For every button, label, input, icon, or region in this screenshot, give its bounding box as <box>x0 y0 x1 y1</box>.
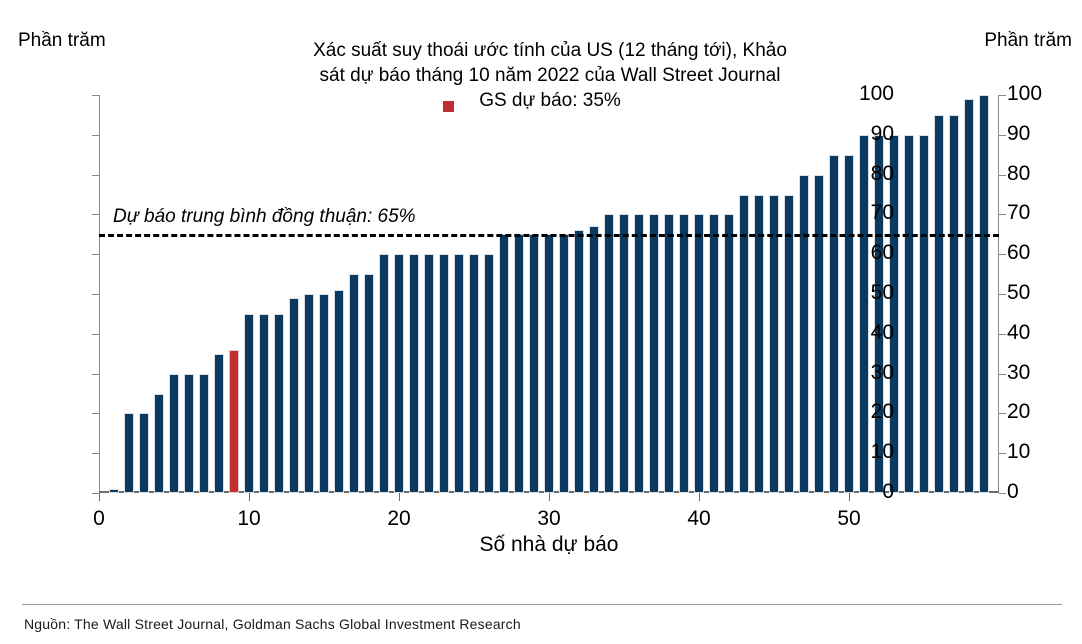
y-tick-100 <box>92 95 99 96</box>
y-tick-30 <box>92 374 99 375</box>
bar-2 <box>124 413 134 493</box>
bar-21 <box>409 254 419 493</box>
bar-58 <box>964 99 974 493</box>
x-tick-label-30: 30 <box>524 507 574 531</box>
y-tick-label-right-0: 0 <box>1007 480 1067 504</box>
bar-55 <box>919 135 929 493</box>
right-axis-unit-label: Phần trăm <box>984 30 1072 52</box>
y-tick-right-100 <box>999 95 1006 96</box>
chart-title-line-2: sát dự báo tháng 10 năm 2022 của Wall St… <box>225 63 875 88</box>
y-tick-label-20: 20 <box>834 400 894 424</box>
bar-26 <box>484 254 494 493</box>
bar-40 <box>694 214 704 493</box>
footer-divider <box>22 604 1062 605</box>
consensus-reference-line <box>99 234 999 237</box>
bar-22 <box>424 254 434 493</box>
bar-31 <box>559 234 569 493</box>
bar-30 <box>544 234 554 493</box>
y-tick-label-right-80: 80 <box>1007 162 1067 186</box>
y-tick-label-70: 70 <box>834 201 894 225</box>
y-tick-label-10: 10 <box>834 440 894 464</box>
x-tick-label-0: 0 <box>74 507 124 531</box>
y-tick-label-50: 50 <box>834 281 894 305</box>
bar-33 <box>589 226 599 493</box>
bar-17 <box>349 274 359 493</box>
x-tick-30 <box>549 493 550 501</box>
x-tick-label-50: 50 <box>824 507 874 531</box>
y-tick-60 <box>92 254 99 255</box>
bar-57 <box>949 115 959 493</box>
x-tick-40 <box>699 493 700 501</box>
bar-3 <box>139 413 149 493</box>
x-axis-title: Số nhà dự báo <box>99 533 999 557</box>
y-tick-0 <box>92 493 99 494</box>
x-tick-20 <box>399 493 400 501</box>
chart-container: Phần trăm Phần trăm Xác suất suy thoái ư… <box>0 0 1082 644</box>
bar-35 <box>619 214 629 493</box>
bar-42 <box>724 214 734 493</box>
y-tick-label-right-30: 30 <box>1007 361 1067 385</box>
x-tick-10 <box>249 493 250 501</box>
y-tick-right-90 <box>999 135 1006 136</box>
y-tick-label-right-50: 50 <box>1007 281 1067 305</box>
bar-39 <box>679 214 689 493</box>
y-tick-label-80: 80 <box>834 162 894 186</box>
bar-36 <box>634 214 644 493</box>
y-tick-label-right-20: 20 <box>1007 400 1067 424</box>
bar-34 <box>604 214 614 493</box>
bar-25 <box>469 254 479 493</box>
x-tick-label-40: 40 <box>674 507 724 531</box>
bar-32 <box>574 230 584 493</box>
chart-title-line-1: Xác suất suy thoái ước tính của US (12 t… <box>225 38 875 63</box>
bar-45 <box>769 195 779 494</box>
y-tick-right-10 <box>999 453 1006 454</box>
bar-48 <box>814 175 824 493</box>
y-tick-label-30: 30 <box>834 361 894 385</box>
y-tick-right-20 <box>999 413 1006 414</box>
left-axis-unit-label: Phần trăm <box>18 30 106 52</box>
bar-13 <box>289 298 299 493</box>
y-tick-right-0 <box>999 493 1006 494</box>
y-tick-80 <box>92 175 99 176</box>
y-tick-label-right-90: 90 <box>1007 122 1067 146</box>
x-tick-label-20: 20 <box>374 507 424 531</box>
y-tick-right-70 <box>999 214 1006 215</box>
y-tick-right-60 <box>999 254 1006 255</box>
bar-6 <box>184 374 194 493</box>
y-tick-label-100: 100 <box>834 82 894 106</box>
y-tick-label-right-70: 70 <box>1007 201 1067 225</box>
bar-20 <box>394 254 404 493</box>
bar-8 <box>214 354 224 493</box>
bar-5 <box>169 374 179 493</box>
bar-47 <box>799 175 809 493</box>
bar-16 <box>334 290 344 493</box>
bar-37 <box>649 214 659 493</box>
y-tick-70 <box>92 214 99 215</box>
bar-19 <box>379 254 389 493</box>
y-tick-label-0: 0 <box>834 480 894 504</box>
bar-38 <box>664 214 674 493</box>
bar-12 <box>274 314 284 493</box>
bar-46 <box>784 195 794 494</box>
x-tick-0 <box>99 493 100 501</box>
plot-area: Dự báo trung bình đồng thuận: 65% 010203… <box>99 95 999 493</box>
y-tick-label-right-100: 100 <box>1007 82 1067 106</box>
bar-59 <box>979 95 989 493</box>
x-tick-label-10: 10 <box>224 507 274 531</box>
bar-4 <box>154 394 164 494</box>
y-tick-10 <box>92 453 99 454</box>
bar-56 <box>934 115 944 493</box>
bar-44 <box>754 195 764 494</box>
consensus-annotation: Dự báo trung bình đồng thuận: 65% <box>113 206 416 228</box>
bar-27 <box>499 234 509 493</box>
y-tick-right-50 <box>999 294 1006 295</box>
bar-41 <box>709 214 719 493</box>
y-tick-label-40: 40 <box>834 321 894 345</box>
bar-1 <box>109 489 119 493</box>
bar-15 <box>319 294 329 493</box>
y-tick-label-right-40: 40 <box>1007 321 1067 345</box>
bar-18 <box>364 274 374 493</box>
bar-7 <box>199 374 209 493</box>
bar-24 <box>454 254 464 493</box>
bar-43 <box>739 195 749 494</box>
bar-14 <box>304 294 314 493</box>
y-tick-50 <box>92 294 99 295</box>
bar-11 <box>259 314 269 493</box>
bar-10 <box>244 314 254 493</box>
y-tick-right-40 <box>999 334 1006 335</box>
y-tick-label-60: 60 <box>834 241 894 265</box>
bar-54 <box>904 135 914 493</box>
y-tick-label-right-60: 60 <box>1007 241 1067 265</box>
bar-29 <box>529 234 539 493</box>
y-tick-90 <box>92 135 99 136</box>
bar-9 <box>229 350 239 493</box>
bar-23 <box>439 254 449 493</box>
y-tick-40 <box>92 334 99 335</box>
y-tick-right-80 <box>999 175 1006 176</box>
y-tick-label-right-10: 10 <box>1007 440 1067 464</box>
y-tick-20 <box>92 413 99 414</box>
source-note: Nguồn: The Wall Street Journal, Goldman … <box>24 616 521 632</box>
x-tick-50 <box>849 493 850 501</box>
bar-28 <box>514 234 524 493</box>
y-tick-label-90: 90 <box>834 122 894 146</box>
y-tick-right-30 <box>999 374 1006 375</box>
